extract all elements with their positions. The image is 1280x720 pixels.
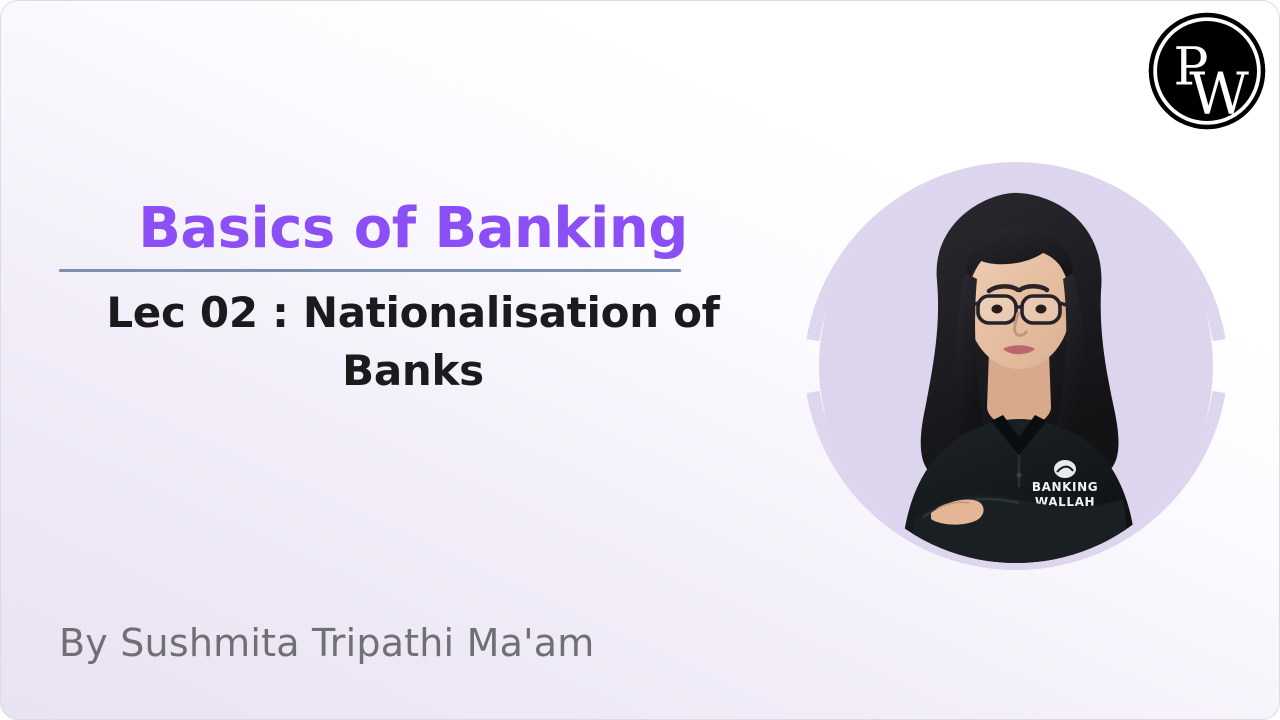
eye-right [1036,305,1047,314]
eye-left [992,305,1003,314]
lecture-title-slide: P W [0,0,1280,720]
title-underline-rule [59,269,681,272]
course-title: Basics of Banking [57,199,769,269]
shirt-brand-logo [1054,460,1076,478]
pw-logo: P W [1143,7,1271,135]
shirt-button [1016,472,1021,477]
instructor-portrait: BANKING WALLAH [819,169,1213,563]
pw-logo-letter-w: W [1189,60,1249,128]
portrait-illustration: BANKING WALLAH [819,169,1213,563]
presenter-credit: By Sushmita Tripathi Ma'am [59,621,594,665]
lecture-title: Lec 02 : Nationalisation of Banks [57,284,769,400]
title-text-block: Basics of Banking Lec 02 : Nationalisati… [57,199,769,400]
portrait-medallion: BANKING WALLAH [801,151,1231,581]
shirt-text-banking: BANKING [1032,480,1098,494]
pw-logo-icon: P W [1143,7,1271,135]
